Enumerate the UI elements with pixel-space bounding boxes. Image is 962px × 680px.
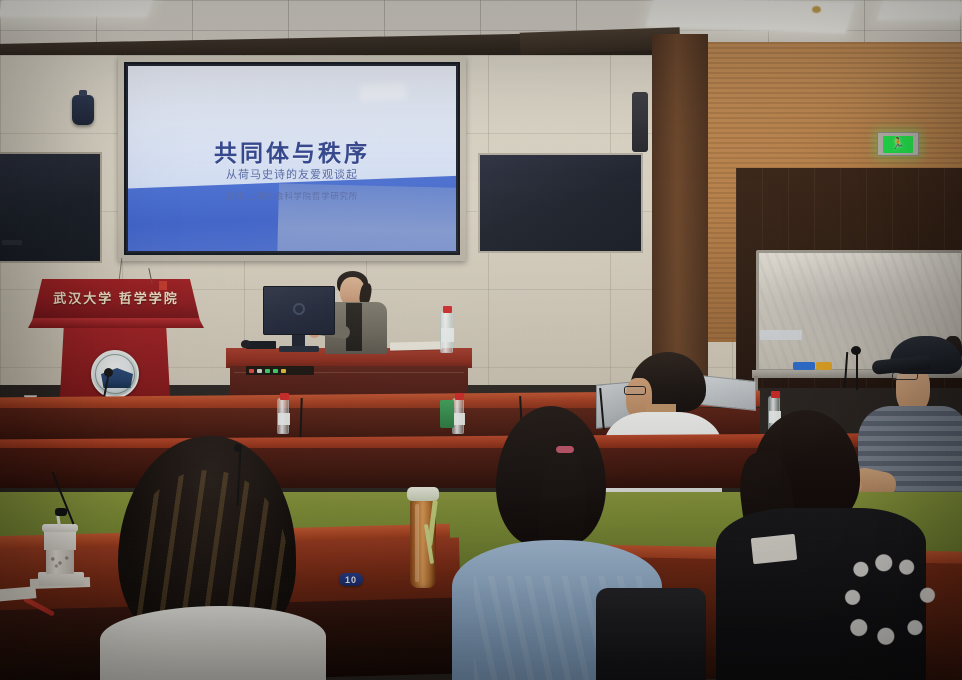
exit-sign: 🏃: [877, 132, 919, 156]
coffee-cup-base: [38, 572, 84, 586]
monitor-stand-base: [279, 346, 319, 352]
paper-documents: [390, 341, 442, 350]
wall-monitor-left: [0, 152, 102, 263]
desk-microphone-icon: [234, 444, 242, 452]
glasses-icon: [624, 386, 646, 395]
status-led-yellow: [281, 369, 286, 373]
slide-title: 共同体与秩序: [128, 134, 456, 168]
paper-documents: [751, 534, 797, 564]
green-folder: [440, 400, 454, 428]
wall-monitor-right: [478, 153, 643, 253]
status-led-green: [265, 369, 270, 373]
status-led-red: [249, 369, 254, 373]
slide-subtitle: 从荷马史诗的友爱观谈起: [128, 166, 456, 182]
wall-speaker: [632, 92, 648, 152]
presentation-slide: 共同体与秩序 从荷马史诗的友爱观谈起 赵琦 上海社会科学院哲学研究所: [128, 66, 456, 251]
screen-glare: [360, 83, 407, 101]
desk-control-panel[interactable]: [246, 366, 314, 375]
desk-item: [760, 330, 802, 340]
podium-microphone-icon: [104, 368, 113, 377]
coffee-cup-sleeve: [46, 548, 74, 574]
status-led-white: [257, 369, 262, 373]
podium-lip: [28, 318, 204, 328]
tumbler-lid: [407, 487, 439, 501]
whiteboard-marker: [793, 362, 815, 370]
desk-microphone-icon: [851, 346, 861, 355]
desk-microphone-icon: [55, 508, 67, 516]
ceiling-light: [877, 2, 962, 20]
ceiling-light: [0, 0, 153, 17]
small-flag-icon: [159, 281, 167, 290]
ceiling-fixture-icon: [812, 6, 821, 13]
tee-graphic-print: [838, 552, 942, 660]
desk-microphone-stem: [856, 352, 858, 390]
seat-number-plate: 10: [339, 573, 363, 586]
whiteboard-marker: [816, 362, 832, 370]
exit-sign-glyph: 🏃: [883, 136, 913, 153]
slide-author: 赵琦 上海社会科学院哲学研究所: [128, 190, 456, 202]
lecture-hall-photo: 🏃 共同体与秩序 从荷马史诗的友爱观谈起 赵琦 上海社会科学院哲学研究所 武汉大…: [0, 0, 962, 680]
podium-sign-text: 武汉大学 哲学学院: [32, 288, 200, 307]
chair-back: [596, 588, 706, 680]
mouse-icon: [241, 340, 251, 348]
wall-speaker: [72, 95, 94, 125]
water-bottle: [440, 311, 453, 353]
status-led-green: [273, 369, 278, 373]
wood-column: [652, 34, 708, 386]
monitor-brand-logo-icon: [293, 303, 305, 315]
student-white-top: [100, 606, 326, 680]
water-bottle: [277, 398, 289, 434]
laptop[interactable]: [700, 375, 756, 411]
university-emblem: [91, 350, 139, 398]
hair-tie-icon: [556, 446, 574, 453]
